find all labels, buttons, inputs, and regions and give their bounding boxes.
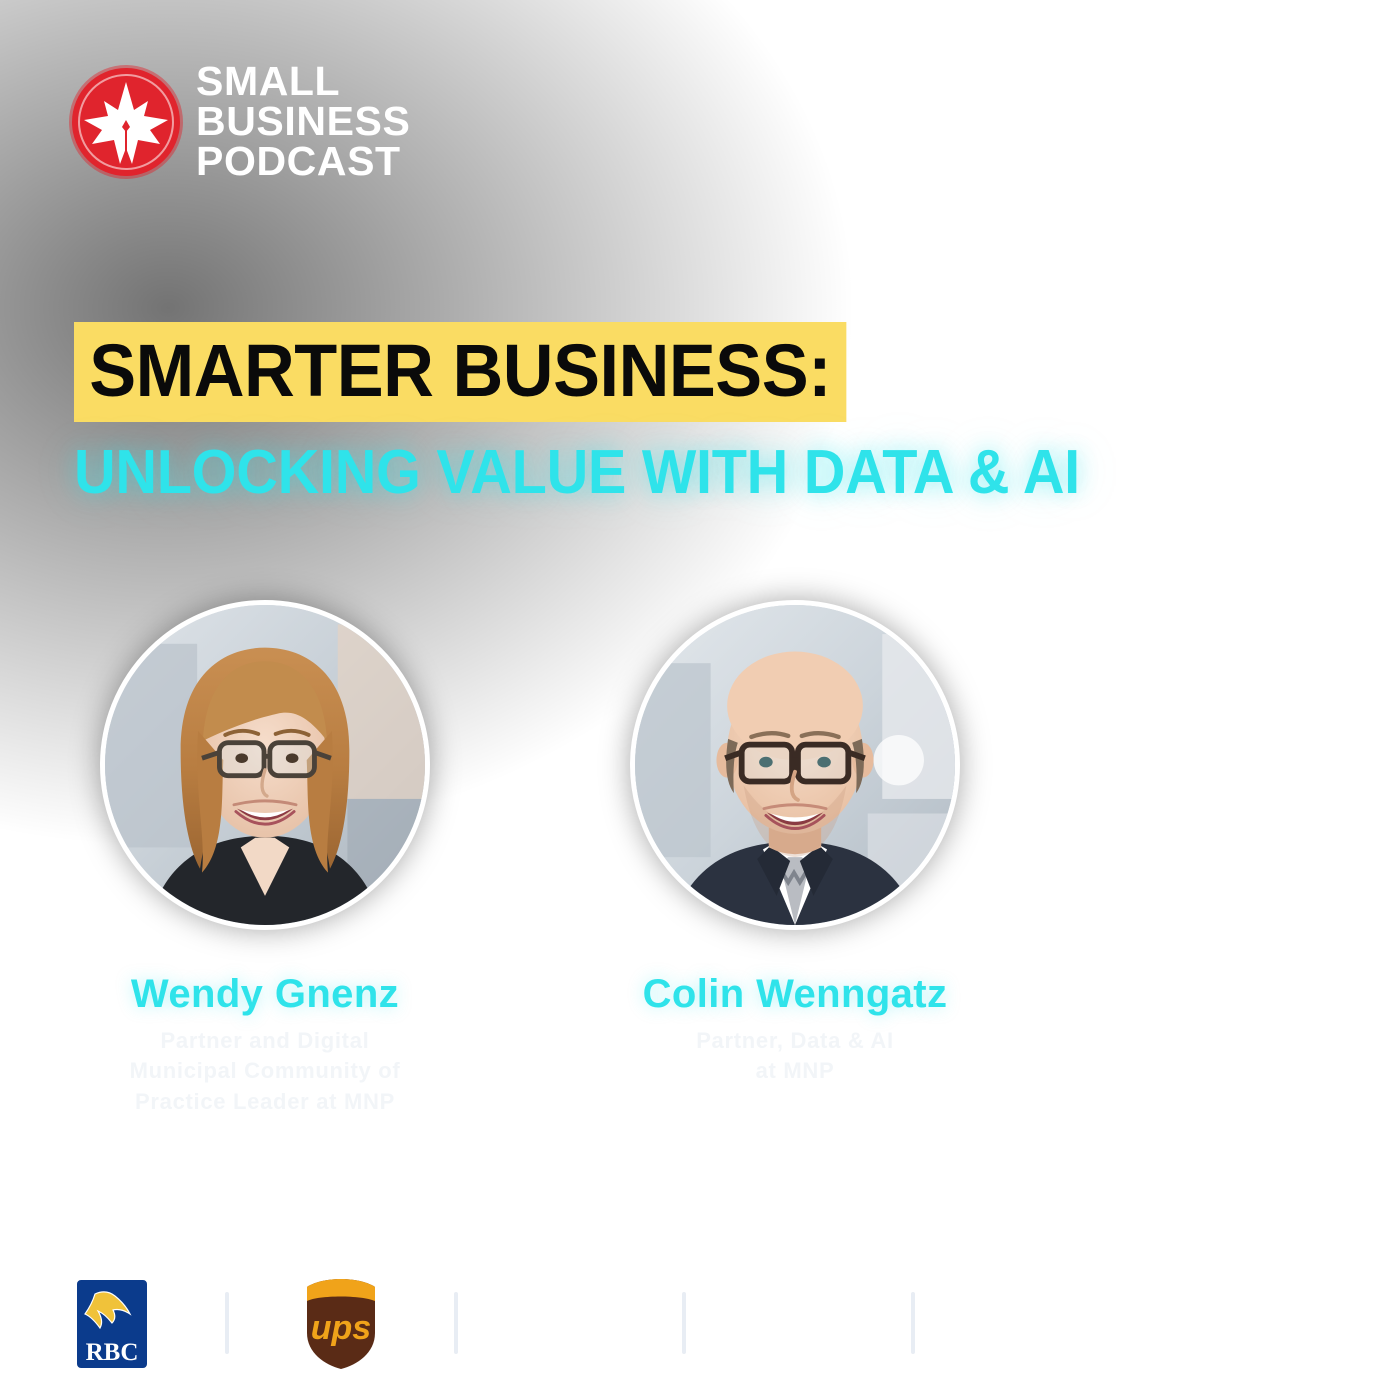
partner-label: Shipping Partner [282, 1224, 400, 1270]
speaker-card: Colin Wenngatz Partner, Data & AI at MNP [530, 600, 1060, 1117]
google-logo[interactable]: Google [700, 1270, 899, 1378]
partner-hr-payroll: Preferred HR and Payroll Partner [458, 1224, 683, 1378]
podcast-promo-poster: SMALL BUSINESS PODCAST SMARTER BUSINESS:… [0, 0, 1400, 1400]
partner-label: Knowledge Partner [961, 1224, 1094, 1270]
brand-logo: SMALL BUSINESS PODCAST [72, 62, 410, 181]
avatar [100, 600, 430, 930]
title-block: SMARTER BUSINESS: UNLOCKING VALUE WITH D… [74, 322, 1156, 505]
a1-line-3: of Health, Business & Technology [983, 1340, 1140, 1362]
speaker-role: Partner and Digital Municipal Community … [130, 1026, 401, 1117]
rbc-logo[interactable]: RBC [75, 1270, 149, 1378]
avatar [630, 600, 960, 930]
a1-line-2: COLLEGE [983, 1316, 1140, 1336]
a1-global-college-logo[interactable]: Discover Your Future with Us A1-GLOBAL C… [915, 1270, 1140, 1378]
brand-line-3: PODCAST [196, 142, 410, 182]
partner-knowledge: Knowledge Partner Discover Your Future w… [915, 1224, 1140, 1378]
svg-text:RBC: RBC [86, 1339, 139, 1366]
svg-text:ups: ups [311, 1309, 371, 1347]
partner-label: Preferred HR and Payroll Partner [510, 1224, 630, 1270]
page-title: SMARTER BUSINESS: [74, 322, 846, 422]
partner-banking: Banking Partner RBC [0, 1224, 225, 1378]
partners-section: Banking Partner RBC Shipping Partner [0, 1224, 1140, 1378]
speaker-name: Wendy Gnenz [131, 972, 399, 1017]
brand-line-2: BUSINESS [196, 102, 410, 142]
maple-leaf-star-icon [72, 68, 180, 176]
speaker-card: Wendy Gnenz Partner and Digital Municipa… [0, 600, 530, 1117]
globe-icon: Discover Your Future with Us [915, 1291, 974, 1357]
speakers-section: Wendy Gnenz Partner and Digital Municipa… [0, 600, 1060, 1117]
speaker-name: Colin Wenngatz [643, 972, 948, 1017]
google-wordmark: Google [700, 1290, 899, 1358]
svg-text:Discover Your Future with Us: Discover Your Future with Us [915, 1291, 971, 1327]
a1-line-1: A1-GLOBAL [983, 1286, 1140, 1313]
partner-shipping: Shipping Partner ups [229, 1224, 454, 1378]
page-subtitle: UNLOCKING VALUE WITH DATA & AI [74, 440, 1080, 505]
partner-label: Tech Partner [755, 1224, 843, 1270]
brand-line-1: SMALL [196, 62, 410, 102]
speaker-role: Partner, Data & AI at MNP [696, 1026, 894, 1087]
partner-label: Banking Partner [56, 1224, 169, 1270]
ups-logo[interactable]: ups [303, 1270, 379, 1378]
adp-logo[interactable] [494, 1270, 646, 1378]
partner-tech: Tech Partner Google [686, 1224, 911, 1378]
a1-arc-text: Discover Your Future with Us [915, 1291, 971, 1327]
